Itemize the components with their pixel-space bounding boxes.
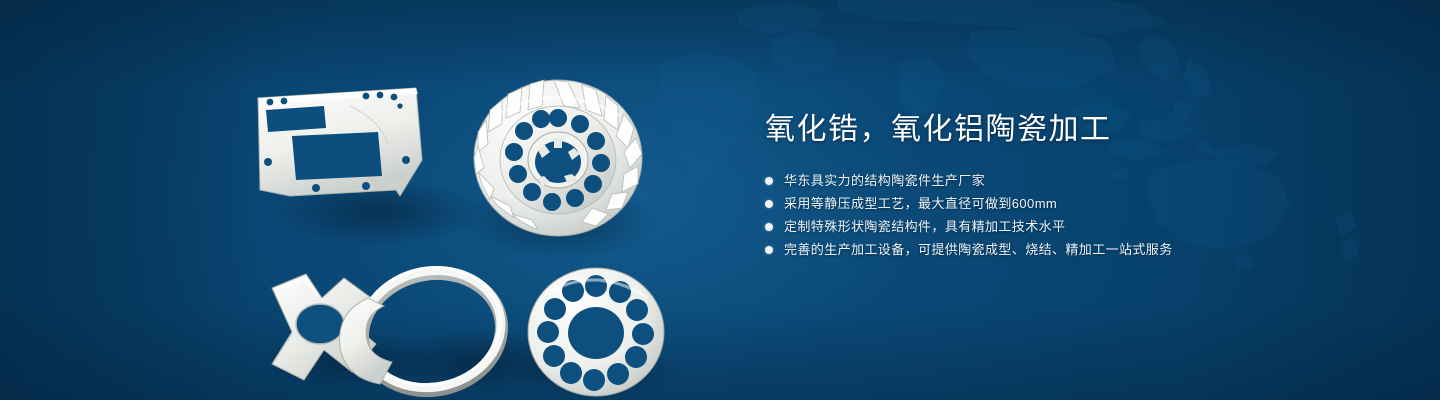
list-item-label: 完善的生产加工设备，可提供陶瓷成型、烧结、精加工一站式服务 xyxy=(784,238,1173,261)
banner-copy: 氧化锆，氧化铝陶瓷加工 华东具实力的结构陶瓷件生产厂家 采用等静压成型工艺，最大… xyxy=(765,110,1385,261)
ceramic-machined-plate xyxy=(258,88,422,196)
bullet-dot-icon xyxy=(765,177,773,185)
list-item-label: 华东具实力的结构陶瓷件生产厂家 xyxy=(784,169,985,192)
ceramic-impeller-disc xyxy=(474,80,642,236)
feature-list: 华东具实力的结构陶瓷件生产厂家 采用等静压成型工艺，最大直径可做到600mm 定… xyxy=(765,169,1385,261)
bullet-dot-icon xyxy=(765,200,773,208)
list-item: 定制特殊形状陶瓷结构件，具有精加工技术水平 xyxy=(765,215,1385,238)
list-item: 华东具实力的结构陶瓷件生产厂家 xyxy=(765,169,1385,192)
page-title: 氧化锆，氧化铝陶瓷加工 xyxy=(765,110,1385,150)
list-item-label: 采用等静压成型工艺，最大直径可做到600mm xyxy=(784,192,1057,215)
list-item: 完善的生产加工设备，可提供陶瓷成型、烧结、精加工一站式服务 xyxy=(765,238,1385,261)
ceramic-products-image xyxy=(230,40,700,380)
hero-banner: 氧化锆，氧化铝陶瓷加工 华东具实力的结构陶瓷件生产厂家 采用等静压成型工艺，最大… xyxy=(0,0,1440,400)
bullet-dot-icon xyxy=(765,246,773,254)
bullet-dot-icon xyxy=(765,223,773,231)
list-item: 采用等静压成型工艺，最大直径可做到600mm xyxy=(765,192,1385,215)
ceramic-perforated-disc xyxy=(528,268,664,396)
list-item-label: 定制特殊形状陶瓷结构件，具有精加工技术水平 xyxy=(784,215,1065,238)
